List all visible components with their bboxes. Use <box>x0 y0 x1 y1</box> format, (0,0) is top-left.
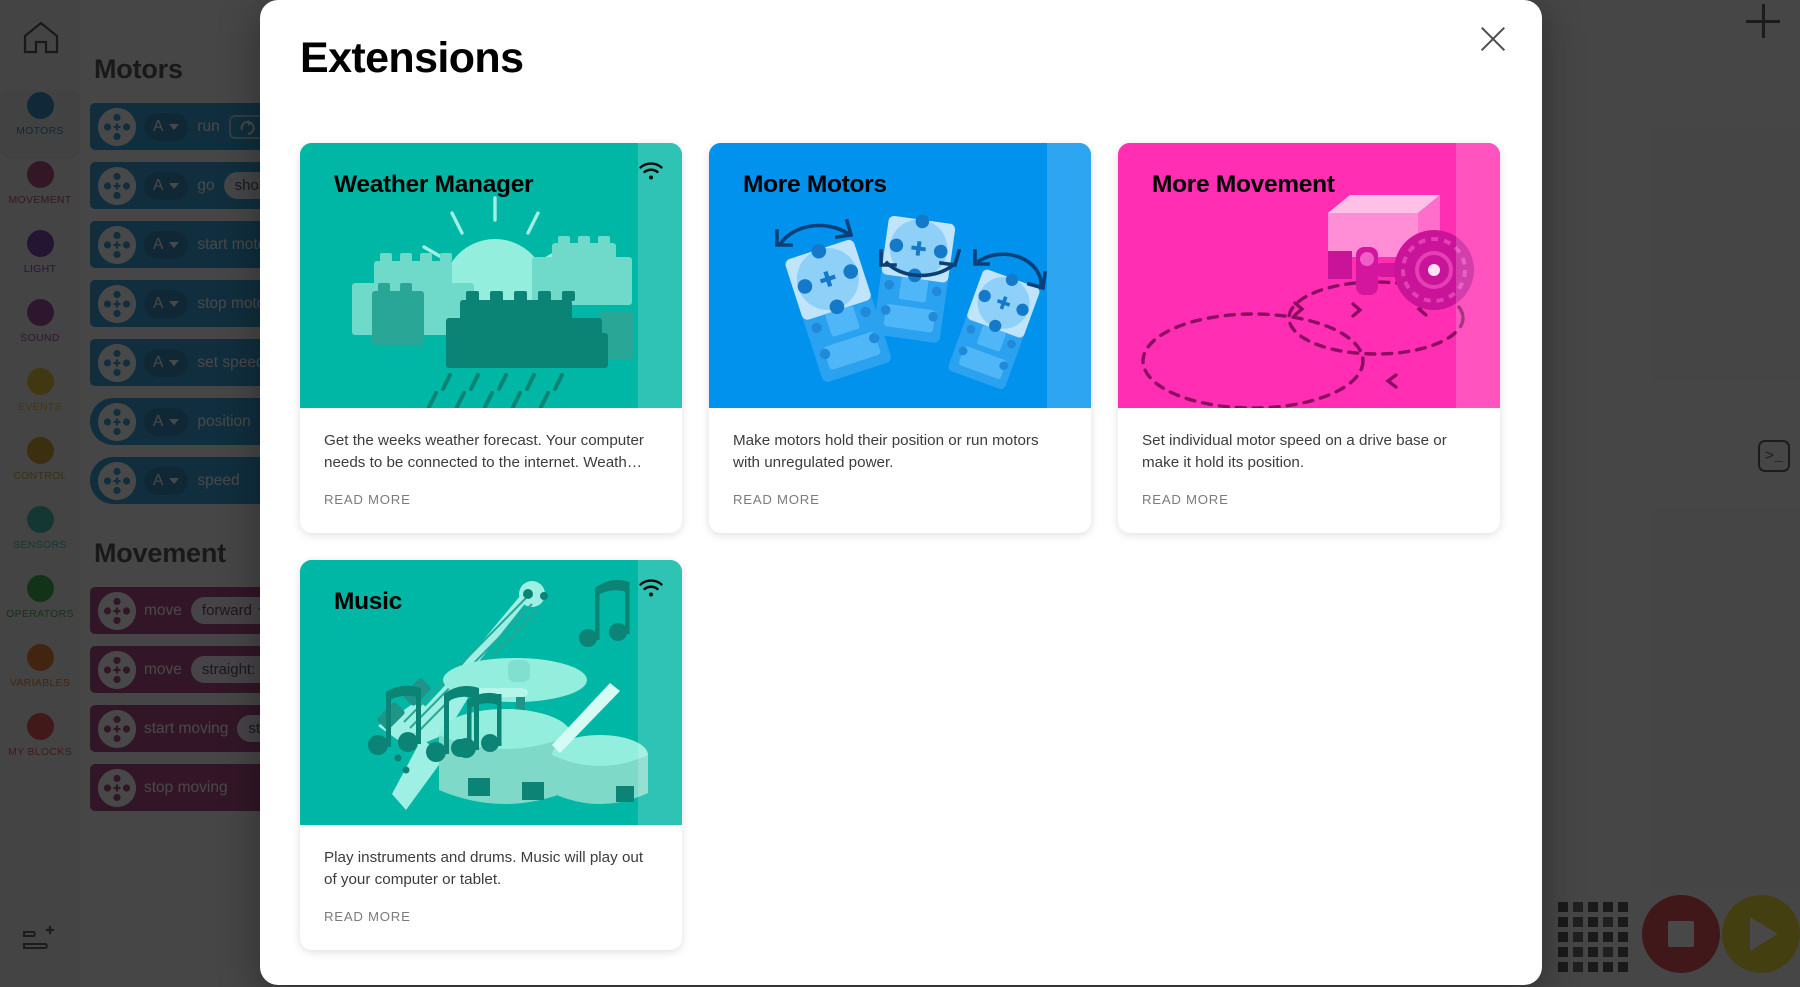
card-title: Weather Manager <box>334 171 533 199</box>
card-hero: Weather Manager <box>300 143 682 408</box>
hero-stripe <box>1456 143 1500 408</box>
wifi-icon <box>638 161 664 186</box>
card-hero: More Motors <box>709 143 1091 408</box>
wifi-icon <box>638 578 664 603</box>
card-hero: Music <box>300 560 682 825</box>
close-icon[interactable] <box>1474 20 1512 58</box>
card-body: Play instruments and drums. Music will p… <box>300 825 682 950</box>
card-title: Music <box>334 588 402 616</box>
card-description: Set individual motor speed on a drive ba… <box>1142 430 1476 473</box>
card-title: More Movement <box>1152 171 1335 199</box>
extension-card-more-movement[interactable]: More MovementSet individual motor speed … <box>1118 143 1500 533</box>
extension-card-grid: Weather ManagerGet the weeks weather for… <box>300 143 1510 950</box>
read-more-link[interactable]: READ MORE <box>324 492 658 507</box>
card-body: Make motors hold their position or run m… <box>709 408 1091 533</box>
card-description: Make motors hold their position or run m… <box>733 430 1067 473</box>
hero-stripe <box>1047 143 1091 408</box>
card-hero: More Movement <box>1118 143 1500 408</box>
card-description: Get the weeks weather forecast. Your com… <box>324 430 658 473</box>
extensions-modal: Extensions Weather ManagerGet the weeks … <box>260 0 1542 985</box>
page-title: Extensions <box>300 34 523 83</box>
read-more-link[interactable]: READ MORE <box>733 492 1067 507</box>
read-more-link[interactable]: READ MORE <box>324 909 658 924</box>
card-description: Play instruments and drums. Music will p… <box>324 847 658 890</box>
extension-card-music[interactable]: MusicPlay instruments and drums. Music w… <box>300 560 682 950</box>
extension-card-more-motors[interactable]: More MotorsMake motors hold their positi… <box>709 143 1091 533</box>
extension-card-weather-manager[interactable]: Weather ManagerGet the weeks weather for… <box>300 143 682 533</box>
read-more-link[interactable]: READ MORE <box>1142 492 1476 507</box>
card-body: Set individual motor speed on a drive ba… <box>1118 408 1500 533</box>
card-title: More Motors <box>743 171 887 199</box>
card-body: Get the weeks weather forecast. Your com… <box>300 408 682 533</box>
